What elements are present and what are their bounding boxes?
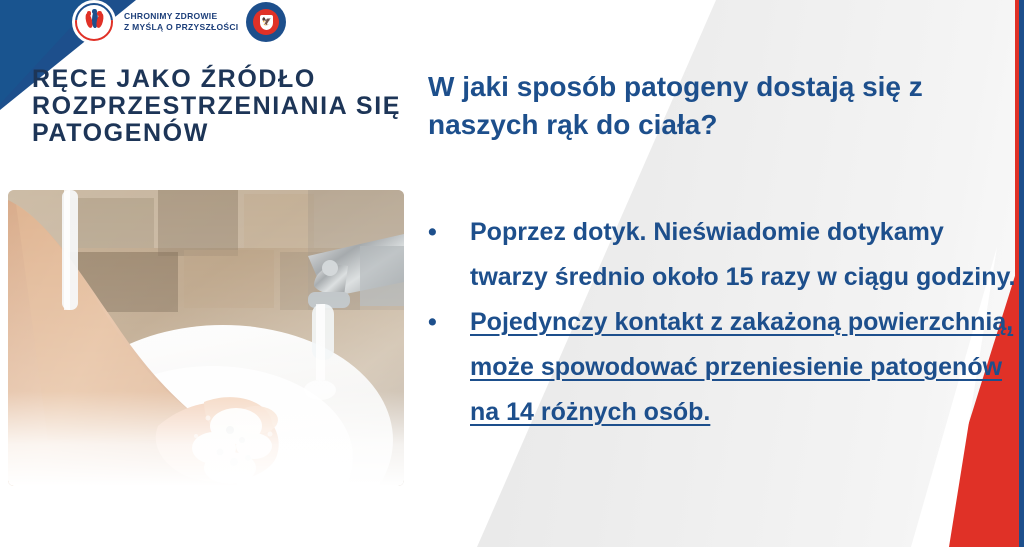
logo-bar: CHRONIMY ZDROWIE Z MYŚLĄ O PRZYSZŁOŚCI 🦅 — [72, 2, 286, 42]
bullet-marker-icon: • — [428, 300, 470, 345]
emblem-head-center — [92, 9, 97, 14]
bullet-text: Poprzez dotyk. Nieświadomie dotykamy twa… — [470, 210, 1018, 300]
background-blue-edge-stripe — [1019, 0, 1024, 547]
emblem-head-right — [97, 11, 102, 16]
state-emblem-inner-disc: 🦅 — [253, 9, 279, 35]
page-title: RĘCE JAKO ŹRÓDŁO ROZPRZESTRZENIANIA SIĘ … — [32, 66, 402, 147]
eagle-shield-icon: 🦅 — [260, 15, 273, 30]
handwashing-photo — [8, 190, 404, 486]
bullet-list: • Poprzez dotyk. Nieświadomie dotykamy t… — [428, 210, 1018, 435]
slide-root: CHRONIMY ZDROWIE Z MYŚLĄ O PRZYSZŁOŚCI 🦅… — [0, 0, 1024, 547]
bullet-text-underlined: Pojedynczy kontakt z zakażoną powierzchn… — [470, 300, 1018, 435]
bullet-marker-icon: • — [428, 210, 470, 255]
list-item: • Pojedynczy kontakt z zakażoną powierzc… — [428, 300, 1018, 435]
logo-caption-line2: Z MYŚLĄ O PRZYSZŁOŚCI — [124, 22, 238, 33]
list-item: • Poprzez dotyk. Nieświadomie dotykamy t… — [428, 210, 1018, 300]
logo-caption-line1: CHRONIMY ZDROWIE — [124, 11, 238, 22]
logo-caption: CHRONIMY ZDROWIE Z MYŚLĄ O PRZYSZŁOŚCI — [124, 11, 238, 33]
main-heading: W jaki sposób patogeny dostają się z nas… — [428, 68, 1008, 144]
polish-state-emblem-icon: 🦅 — [246, 2, 286, 42]
emblem-head-left — [87, 11, 92, 16]
health-people-emblem-icon — [72, 0, 116, 44]
